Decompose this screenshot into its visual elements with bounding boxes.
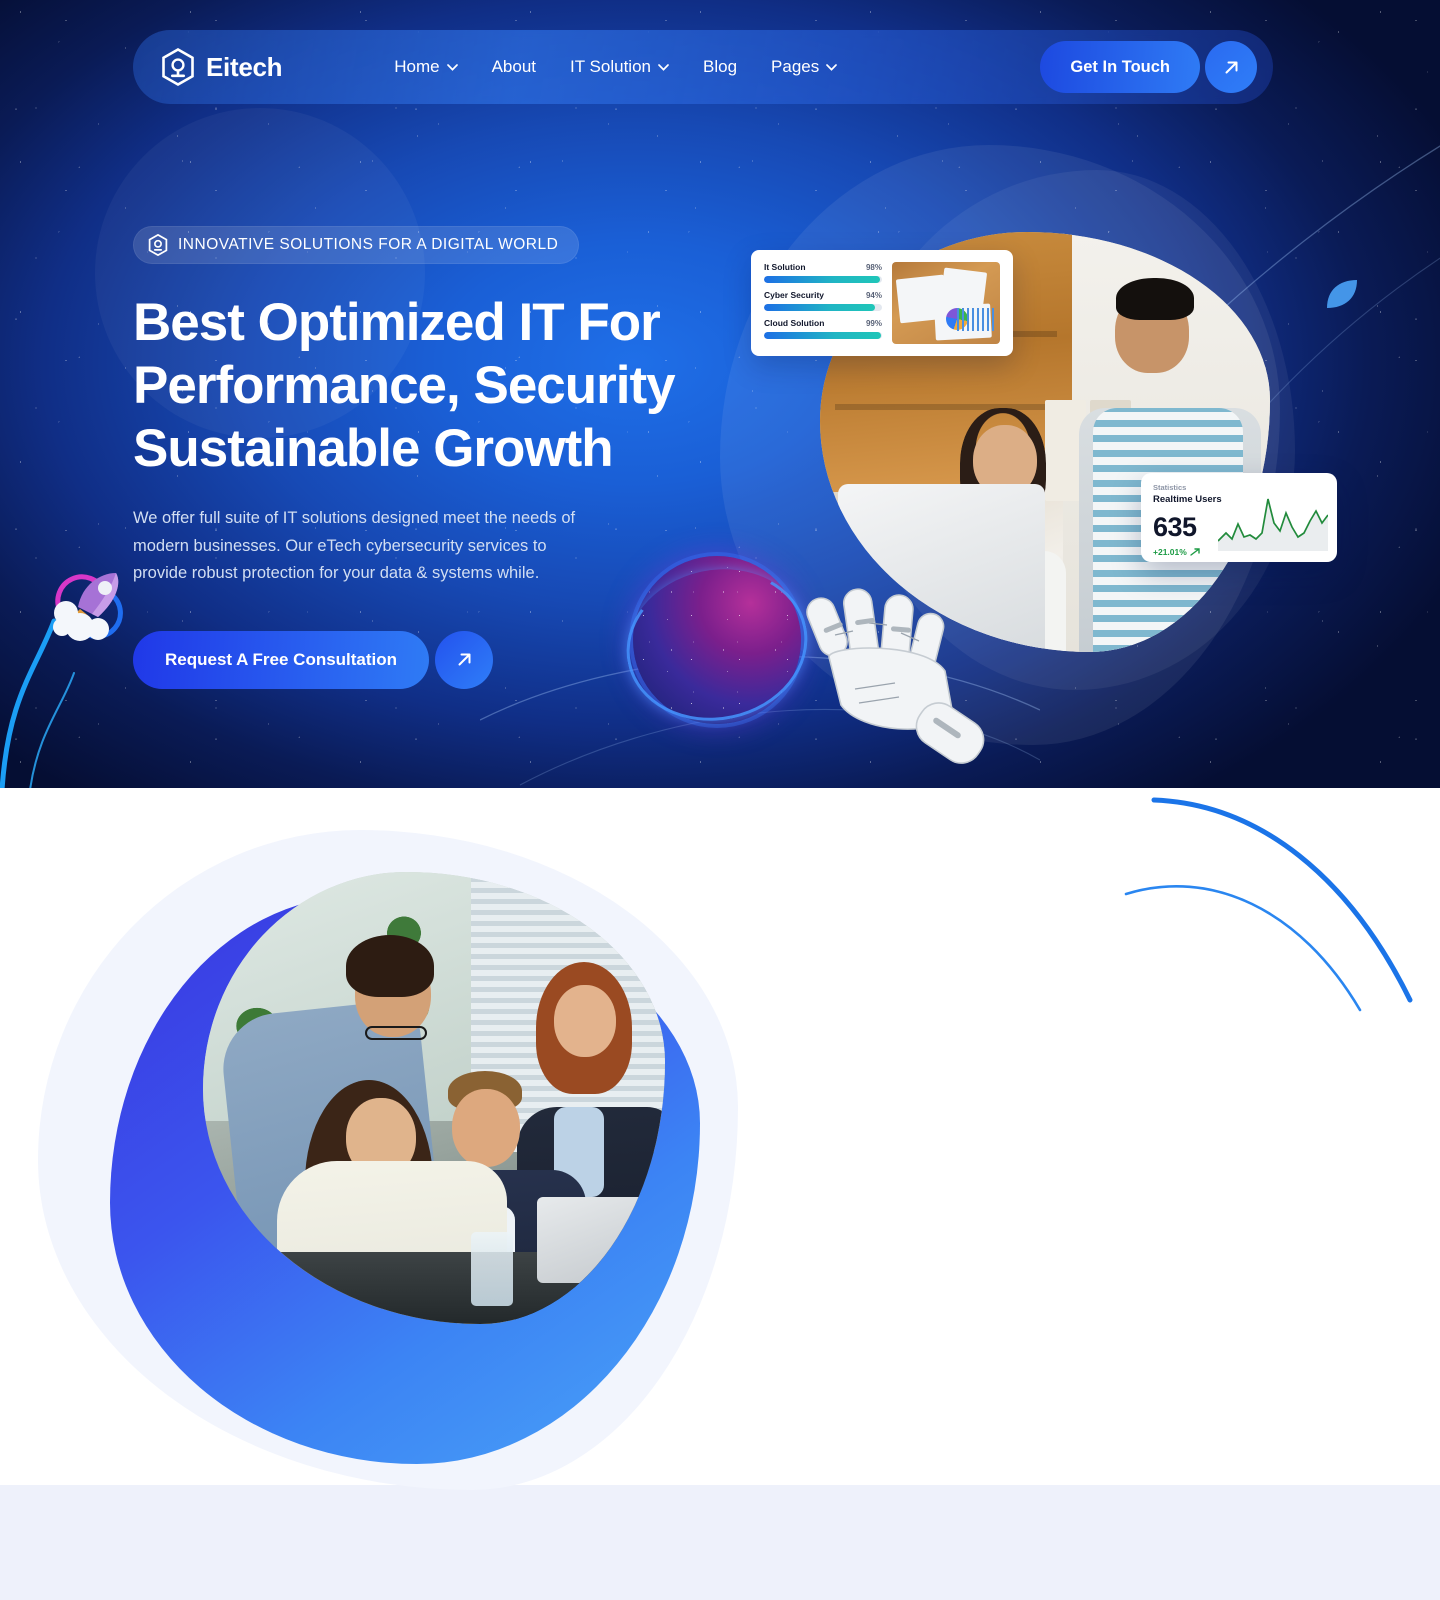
main-navbar: Eitech Home About IT Solution Blog Pages — [133, 30, 1273, 104]
hero-skill-label: Cyber Security — [764, 290, 824, 300]
hero-skill-fill — [764, 276, 880, 283]
hero-skills-list: It Solution 98% Cyber Security 94% Cloud… — [764, 262, 882, 344]
hero-badge-label: INNOVATIVE SOLUTIONS FOR A DIGITAL WORLD — [178, 236, 558, 254]
arrow-up-right-icon — [455, 650, 474, 669]
nav-item-about[interactable]: About — [492, 57, 536, 77]
hero-section: Eitech Home About IT Solution Blog Pages — [0, 0, 1440, 788]
hero-badge: INNOVATIVE SOLUTIONS FOR A DIGITAL WORLD — [133, 226, 579, 264]
hero-leaf-accent-icon — [1325, 278, 1359, 312]
get-in-touch-arrow-button[interactable] — [1205, 41, 1257, 93]
nav-item-it-solution[interactable]: IT Solution — [570, 57, 669, 77]
hero-skill-row: It Solution 98% — [764, 262, 882, 283]
hero-skills-card: It Solution 98% Cyber Security 94% Cloud… — [751, 250, 1013, 356]
hero-skill-label: Cloud Solution — [764, 318, 824, 328]
stats-delta-label: +21.01% — [1153, 547, 1187, 557]
hero-request-consultation-button[interactable]: Request A Free Consultation — [133, 631, 429, 689]
stats-kicker: Statistics — [1153, 483, 1325, 492]
hero-skill-fill — [764, 332, 881, 339]
navbar-cta-group: Get In Touch — [1040, 41, 1257, 93]
hero-skill-percent: 99% — [866, 319, 882, 328]
nav-item-label: IT Solution — [570, 57, 651, 77]
nav-item-label: About — [492, 57, 536, 77]
brand-name: Eitech — [206, 52, 282, 83]
hero-request-consultation-arrow-button[interactable] — [435, 631, 493, 689]
hero-skill-label: It Solution — [764, 262, 806, 272]
get-in-touch-button[interactable]: Get In Touch — [1040, 41, 1200, 93]
hero-skill-fill — [764, 304, 875, 311]
chevron-down-icon — [658, 64, 669, 71]
hexagon-logo-icon — [148, 234, 168, 256]
hero-title: Best Optimized IT For Performance, Secur… — [133, 291, 733, 480]
nav-item-blog[interactable]: Blog — [703, 57, 737, 77]
hero-robot-hand-graphic — [795, 585, 1015, 775]
stats-sparkline-chart — [1218, 493, 1328, 551]
hero-skill-row: Cloud Solution 99% — [764, 318, 882, 339]
hero-subtitle: We offer full suite of IT solutions desi… — [133, 505, 603, 588]
chevron-down-icon — [447, 64, 458, 71]
rocket-graphic — [42, 565, 128, 657]
hero-skill-row: Cyber Security 94% — [764, 290, 882, 311]
about-team-photo — [203, 872, 665, 1324]
hero-skill-track — [764, 332, 882, 339]
chevron-down-icon — [826, 64, 837, 71]
nav-links: Home About IT Solution Blog Pages — [394, 57, 837, 77]
brand-logo[interactable]: Eitech — [161, 48, 282, 86]
trend-up-icon — [1190, 547, 1200, 557]
hero-skills-thumbnail — [892, 262, 1000, 344]
hexagon-logo-icon — [161, 48, 195, 86]
nav-item-label: Blog — [703, 57, 737, 77]
nav-item-pages[interactable]: Pages — [771, 57, 837, 77]
hero-skill-track — [764, 276, 882, 283]
about-decorative-curves — [1110, 788, 1440, 1012]
hero-skill-track — [764, 304, 882, 311]
hero-skill-percent: 94% — [866, 291, 882, 300]
nav-item-label: Home — [394, 57, 439, 77]
arrow-up-right-icon — [1222, 58, 1241, 77]
hero-stats-card: Statistics Realtime Users 635 +21.01% — [1141, 473, 1337, 562]
nav-item-label: Pages — [771, 57, 819, 77]
about-bottom-band — [0, 1485, 1440, 1600]
hero-skill-percent: 98% — [866, 263, 882, 272]
nav-item-home[interactable]: Home — [394, 57, 457, 77]
